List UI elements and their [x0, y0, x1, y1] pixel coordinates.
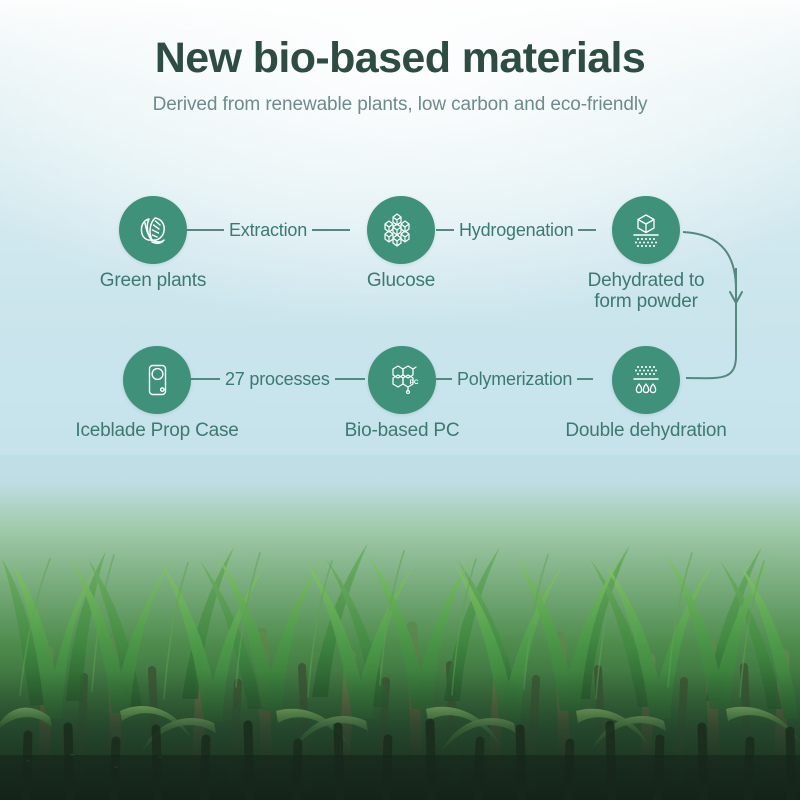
- connector-label-27-processes: 27 processes: [220, 369, 335, 390]
- node-bubble[interactable]: [123, 346, 191, 414]
- phone-case-icon: [137, 360, 177, 400]
- connector-label-polymerization: Polymerization: [452, 369, 577, 390]
- connector-line-right: [312, 229, 350, 231]
- pc-molecule-icon: PC: [381, 359, 423, 401]
- node-label-double-dehydration: Double dehydration: [506, 420, 786, 441]
- node-label-bio-based-pc: Bio-based PC: [262, 420, 542, 441]
- node-label-glucose: Glucose: [261, 270, 541, 291]
- connector-label-hydrogenation: Hydrogenation: [454, 220, 578, 241]
- cube-powder-icon: [625, 209, 667, 251]
- connector-line-left: [186, 229, 224, 231]
- infographic-canvas: New bio-based materials Derived from ren…: [0, 0, 800, 800]
- pc-molecule-text: PC: [410, 379, 419, 386]
- connector-line-left: [436, 229, 454, 231]
- sugarcane-blades: [0, 455, 800, 800]
- connector-27-processes: 27 processes: [190, 367, 365, 391]
- node-bubble[interactable]: [119, 196, 187, 264]
- connector-extraction: Extraction: [186, 218, 350, 242]
- connector-line-right: [577, 378, 593, 380]
- connector-hydrogenation: Hydrogenation: [436, 218, 596, 242]
- process-flow-diagram: Extraction Hydrogenation Polymerization …: [0, 0, 800, 470]
- node-bubble[interactable]: PC: [368, 346, 436, 414]
- connector-line-right: [578, 229, 596, 231]
- node-label-iceblade-prop-case: Iceblade Prop Case: [17, 420, 297, 441]
- node-label-dehydrated-powder: Dehydrated to form powder: [506, 270, 786, 313]
- connector-line-left: [190, 378, 220, 380]
- node-bubble[interactable]: [367, 196, 435, 264]
- connector-polymerization: Polymerization: [436, 367, 593, 391]
- node-bubble[interactable]: [612, 346, 680, 414]
- connector-line-left: [436, 378, 452, 380]
- sugar-cubes-icon: [380, 209, 422, 251]
- node-label-green-plants: Green plants: [13, 270, 293, 291]
- node-bubble[interactable]: [612, 196, 680, 264]
- powder-droplets-icon: [625, 359, 667, 401]
- connector-line-right: [335, 378, 365, 380]
- sugarcane-field-photo: [0, 455, 800, 800]
- corn-icon: [133, 210, 173, 250]
- connector-label-extraction: Extraction: [224, 220, 312, 241]
